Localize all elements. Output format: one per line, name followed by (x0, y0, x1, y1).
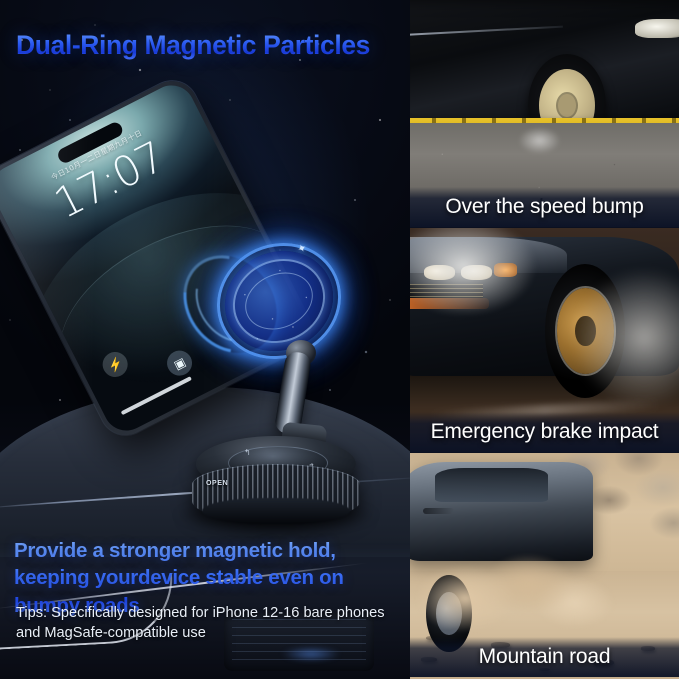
caption-emergency-brake: Emergency brake impact (410, 412, 679, 452)
base-bottom-edge (202, 498, 350, 524)
suction-base: ↰ ↱ OPEN (192, 436, 360, 528)
scenario-panel-emergency-brake: Emergency brake impact (410, 228, 679, 452)
scenario-panel-speed-bump: Over the speed bump (410, 0, 679, 227)
caption-speed-bump: Over the speed bump (410, 187, 679, 227)
dust-cloud (415, 534, 625, 638)
headlight (635, 19, 679, 37)
taillight (423, 508, 453, 514)
hero-tip-text: Tips: Specifically designed for iPhone 1… (16, 603, 388, 643)
vent-blue-glow (282, 647, 340, 661)
tire-dust (518, 127, 561, 154)
rotate-arrow-left-icon: ↰ (244, 448, 251, 457)
rear-window (435, 468, 548, 502)
scenario-panel-mountain-road: Mountain road (410, 453, 679, 679)
base-open-label: OPEN (206, 480, 316, 487)
caption-mountain-road: Mountain road (410, 637, 679, 677)
page-title: Dual-Ring Magnetic Particles (16, 30, 404, 61)
product-marketing-image: 今日10月一二日星期九月十日 17:07 ⚡ ▣ ✦ (0, 0, 679, 679)
dual-ring-magnet-graphic: ✦ (193, 215, 365, 387)
hero-panel: 今日10月一二日星期九月十日 17:07 ⚡ ▣ ✦ (0, 0, 410, 679)
scenario-panel-column: Over the speed bump (410, 0, 679, 679)
car-side-trim (410, 25, 563, 36)
